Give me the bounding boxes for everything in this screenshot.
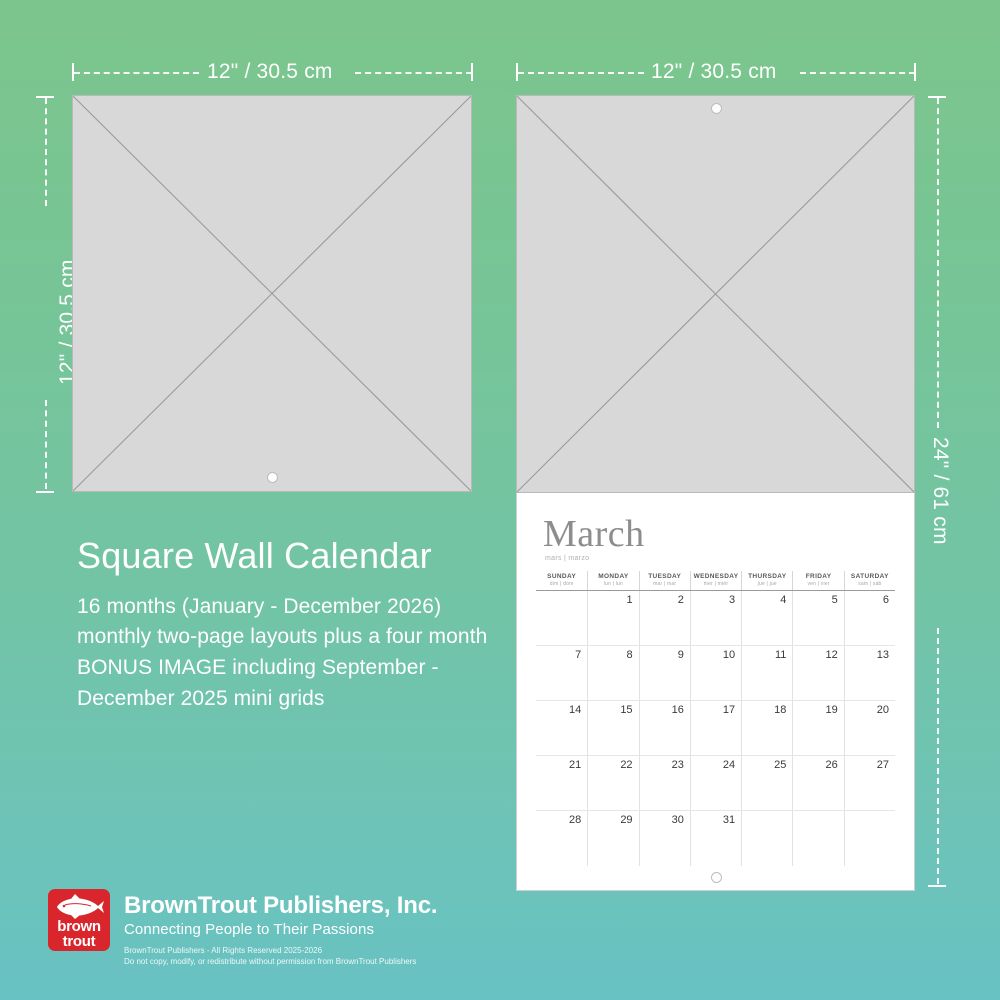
calendar-day-cell[interactable]: 2 xyxy=(639,591,690,645)
day-header-sunday: SUNDAY dim | dom xyxy=(536,571,587,590)
dim-line-right-height-b xyxy=(937,628,939,884)
calendar-day-cell[interactable]: 3 xyxy=(690,591,741,645)
calendar-day-number: 17 xyxy=(723,704,735,716)
calendar-day-number: 5 xyxy=(832,594,838,606)
day-header-abbr: dim | dom xyxy=(536,581,587,587)
dim-line-left-panel-top-a xyxy=(74,72,199,74)
calendar-day-cell[interactable]: 21 xyxy=(536,756,587,810)
calendar-day-number: 15 xyxy=(620,704,632,716)
dim-line-right-height-a xyxy=(937,98,939,428)
calendar-day-cell[interactable]: 13 xyxy=(844,646,895,700)
calendar-week-row: 14 15 16 17 18 19 20 xyxy=(536,701,895,756)
day-header-name: SUNDAY xyxy=(536,573,587,580)
calendar-day-number: 6 xyxy=(883,594,889,606)
calendar-day-number: 11 xyxy=(775,649,786,661)
calendar-day-cell[interactable]: 10 xyxy=(690,646,741,700)
footer: brown trout BrownTrout Publishers, Inc. … xyxy=(48,889,437,968)
calendar-week-row: 7 8 9 10 11 12 13 xyxy=(536,646,895,701)
calendar-day-number: 4 xyxy=(780,594,786,606)
calendar-day-cell[interactable]: 12 xyxy=(792,646,843,700)
calendar-day-cell[interactable]: 11 xyxy=(741,646,792,700)
calendar-day-number: 16 xyxy=(672,704,684,716)
copyright-notice: BrownTrout Publishers - All Rights Reser… xyxy=(124,945,437,968)
calendar-day-cell[interactable]: 14 xyxy=(536,701,587,755)
page-title: Square Wall Calendar xyxy=(77,536,497,576)
calendar-day-number: 20 xyxy=(877,704,889,716)
dim-line-left-height-b xyxy=(45,400,47,489)
hole-punch-calendar-bottom xyxy=(711,872,722,883)
calendar-day-number: 19 xyxy=(825,704,837,716)
calendar-day-cell[interactable]: 7 xyxy=(536,646,587,700)
footer-text-block: BrownTrout Publishers, Inc. Connecting P… xyxy=(124,889,437,968)
product-spec-card: 12" / 30.5 cm 12" / 30.5 cm 12" / 30.5 c… xyxy=(0,0,1000,1000)
calendar-day-cell[interactable]: 30 xyxy=(639,811,690,866)
placeholder-cross-icon xyxy=(517,96,914,492)
calendar-day-number: 8 xyxy=(626,649,632,661)
calendar-day-cell[interactable]: 6 xyxy=(844,591,895,645)
calendar-day-cell[interactable] xyxy=(844,811,895,866)
calendar-day-number: 24 xyxy=(723,759,735,771)
day-header-wednesday: WEDNESDAY mer | miér xyxy=(690,571,741,590)
calendar-day-cell[interactable]: 31 xyxy=(690,811,741,866)
calendar-day-number: 25 xyxy=(774,759,786,771)
calendar-day-cell[interactable]: 17 xyxy=(690,701,741,755)
calendar-day-number: 23 xyxy=(672,759,684,771)
calendar-day-number: 7 xyxy=(575,649,581,661)
calendar-day-cell[interactable]: 9 xyxy=(639,646,690,700)
calendar-day-cell[interactable]: 28 xyxy=(536,811,587,866)
calendar-day-cell[interactable]: 15 xyxy=(587,701,638,755)
calendar-day-number: 27 xyxy=(877,759,889,771)
left-image-panel xyxy=(72,95,472,492)
day-header-abbr: mar | mar xyxy=(640,581,690,587)
calendar-day-cell[interactable]: 20 xyxy=(844,701,895,755)
headline-block: Square Wall Calendar 16 months (January … xyxy=(77,536,497,715)
calendar-day-number: 18 xyxy=(774,704,786,716)
placeholder-cross-icon xyxy=(73,96,471,491)
calendar-day-cell[interactable]: 5 xyxy=(792,591,843,645)
hole-punch-right-panel-top xyxy=(711,103,722,114)
calendar-page: March mars | marzo SUNDAY dim | dom MOND… xyxy=(516,493,915,891)
calendar-month-title: March xyxy=(543,515,645,553)
day-header-monday: MONDAY lun | lun xyxy=(587,571,638,590)
day-header-name: TUESDAY xyxy=(640,573,690,580)
logo-word-trout: trout xyxy=(48,934,110,949)
calendar-day-number: 13 xyxy=(877,649,889,661)
calendar-month-subtitle: mars | marzo xyxy=(545,555,589,562)
day-header-name: SATURDAY xyxy=(845,573,895,580)
dim-label-right-panel-width: 12" / 30.5 cm xyxy=(651,60,777,84)
day-header-name: THURSDAY xyxy=(742,573,792,580)
day-header-name: MONDAY xyxy=(588,573,638,580)
calendar-week-row: 1 2 3 4 5 6 xyxy=(536,591,895,646)
day-header-friday: FRIDAY ven | vier xyxy=(792,571,843,590)
day-header-thursday: THURSDAY jue | jue xyxy=(741,571,792,590)
calendar-day-number: 28 xyxy=(569,814,581,826)
calendar-day-number: 26 xyxy=(825,759,837,771)
calendar-week-row: 28 29 30 31 xyxy=(536,811,895,866)
calendar-day-number: 12 xyxy=(825,649,837,661)
calendar-day-number: 10 xyxy=(723,649,735,661)
logo-word-brown: brown xyxy=(48,919,110,934)
calendar-day-cell[interactable]: 1 xyxy=(587,591,638,645)
calendar-day-header-row: SUNDAY dim | dom MONDAY lun | lun TUESDA… xyxy=(536,571,895,591)
day-header-abbr: jue | jue xyxy=(742,581,792,587)
day-header-abbr: ven | vier xyxy=(793,581,843,587)
calendar-day-number: 31 xyxy=(723,814,735,826)
copyright-line-1: BrownTrout Publishers - All Rights Reser… xyxy=(124,945,437,957)
calendar-day-cell[interactable]: 8 xyxy=(587,646,638,700)
copyright-line-2: Do not copy, modify, or redistribute wit… xyxy=(124,956,437,968)
calendar-day-cell[interactable]: 27 xyxy=(844,756,895,810)
day-header-name: WEDNESDAY xyxy=(691,573,741,580)
calendar-day-number: 1 xyxy=(626,594,632,606)
calendar-day-cell[interactable] xyxy=(741,811,792,866)
dim-tick-right-panel-end xyxy=(914,63,916,81)
calendar-day-cell[interactable]: 22 xyxy=(587,756,638,810)
day-header-abbr: sam | sáb xyxy=(845,581,895,587)
dim-tick-left-height-bottom xyxy=(36,491,54,493)
dim-tick-left-panel-end xyxy=(471,63,473,81)
hole-punch-left-panel xyxy=(267,472,278,483)
calendar-day-cell[interactable]: 16 xyxy=(639,701,690,755)
dim-label-left-panel-width: 12" / 30.5 cm xyxy=(207,60,333,84)
calendar-day-cell[interactable]: 19 xyxy=(792,701,843,755)
trout-fish-icon xyxy=(53,893,105,919)
day-header-abbr: lun | lun xyxy=(588,581,638,587)
dim-line-right-panel-top-a xyxy=(518,72,644,74)
calendar-day-number: 14 xyxy=(569,704,581,716)
dim-line-right-panel-top-b xyxy=(800,72,915,74)
dim-label-right-height: 24" / 61 cm xyxy=(928,437,952,545)
calendar-day-cell[interactable]: 23 xyxy=(639,756,690,810)
calendar-day-number: 22 xyxy=(620,759,632,771)
calendar-day-cell[interactable] xyxy=(792,811,843,866)
calendar-week-row: 21 22 23 24 25 26 27 xyxy=(536,756,895,811)
calendar-day-number: 2 xyxy=(678,594,684,606)
calendar-day-number: 3 xyxy=(729,594,735,606)
calendar-grid: SUNDAY dim | dom MONDAY lun | lun TUESDA… xyxy=(536,571,895,866)
calendar-day-cell[interactable]: 25 xyxy=(741,756,792,810)
calendar-day-cell[interactable]: 4 xyxy=(741,591,792,645)
calendar-day-cell[interactable]: 18 xyxy=(741,701,792,755)
dim-line-left-height-a xyxy=(45,98,47,206)
calendar-day-cell[interactable] xyxy=(536,591,587,645)
right-image-panel xyxy=(516,95,915,493)
day-header-tuesday: TUESDAY mar | mar xyxy=(639,571,690,590)
calendar-day-cell[interactable]: 29 xyxy=(587,811,638,866)
dim-line-left-panel-top-b xyxy=(355,72,472,74)
company-tagline: Connecting People to Their Passions xyxy=(124,921,437,938)
dim-tick-right-height-bottom xyxy=(928,885,946,887)
calendar-day-number: 30 xyxy=(672,814,684,826)
day-header-abbr: mer | miér xyxy=(691,581,741,587)
day-header-saturday: SATURDAY sam | sáb xyxy=(844,571,895,590)
calendar-day-number: 9 xyxy=(678,649,684,661)
company-name: BrownTrout Publishers, Inc. xyxy=(124,892,437,920)
calendar-day-number: 21 xyxy=(569,759,581,771)
browntrout-logo: brown trout xyxy=(48,889,110,951)
day-header-name: FRIDAY xyxy=(793,573,843,580)
calendar-day-number: 29 xyxy=(620,814,632,826)
product-description: 16 months (January - December 2026) mont… xyxy=(77,592,497,715)
calendar-weeks: 1 2 3 4 5 6 7 8 9 10 11 12 13 14 xyxy=(536,591,895,866)
calendar-day-cell[interactable]: 26 xyxy=(792,756,843,810)
calendar-day-cell[interactable]: 24 xyxy=(690,756,741,810)
